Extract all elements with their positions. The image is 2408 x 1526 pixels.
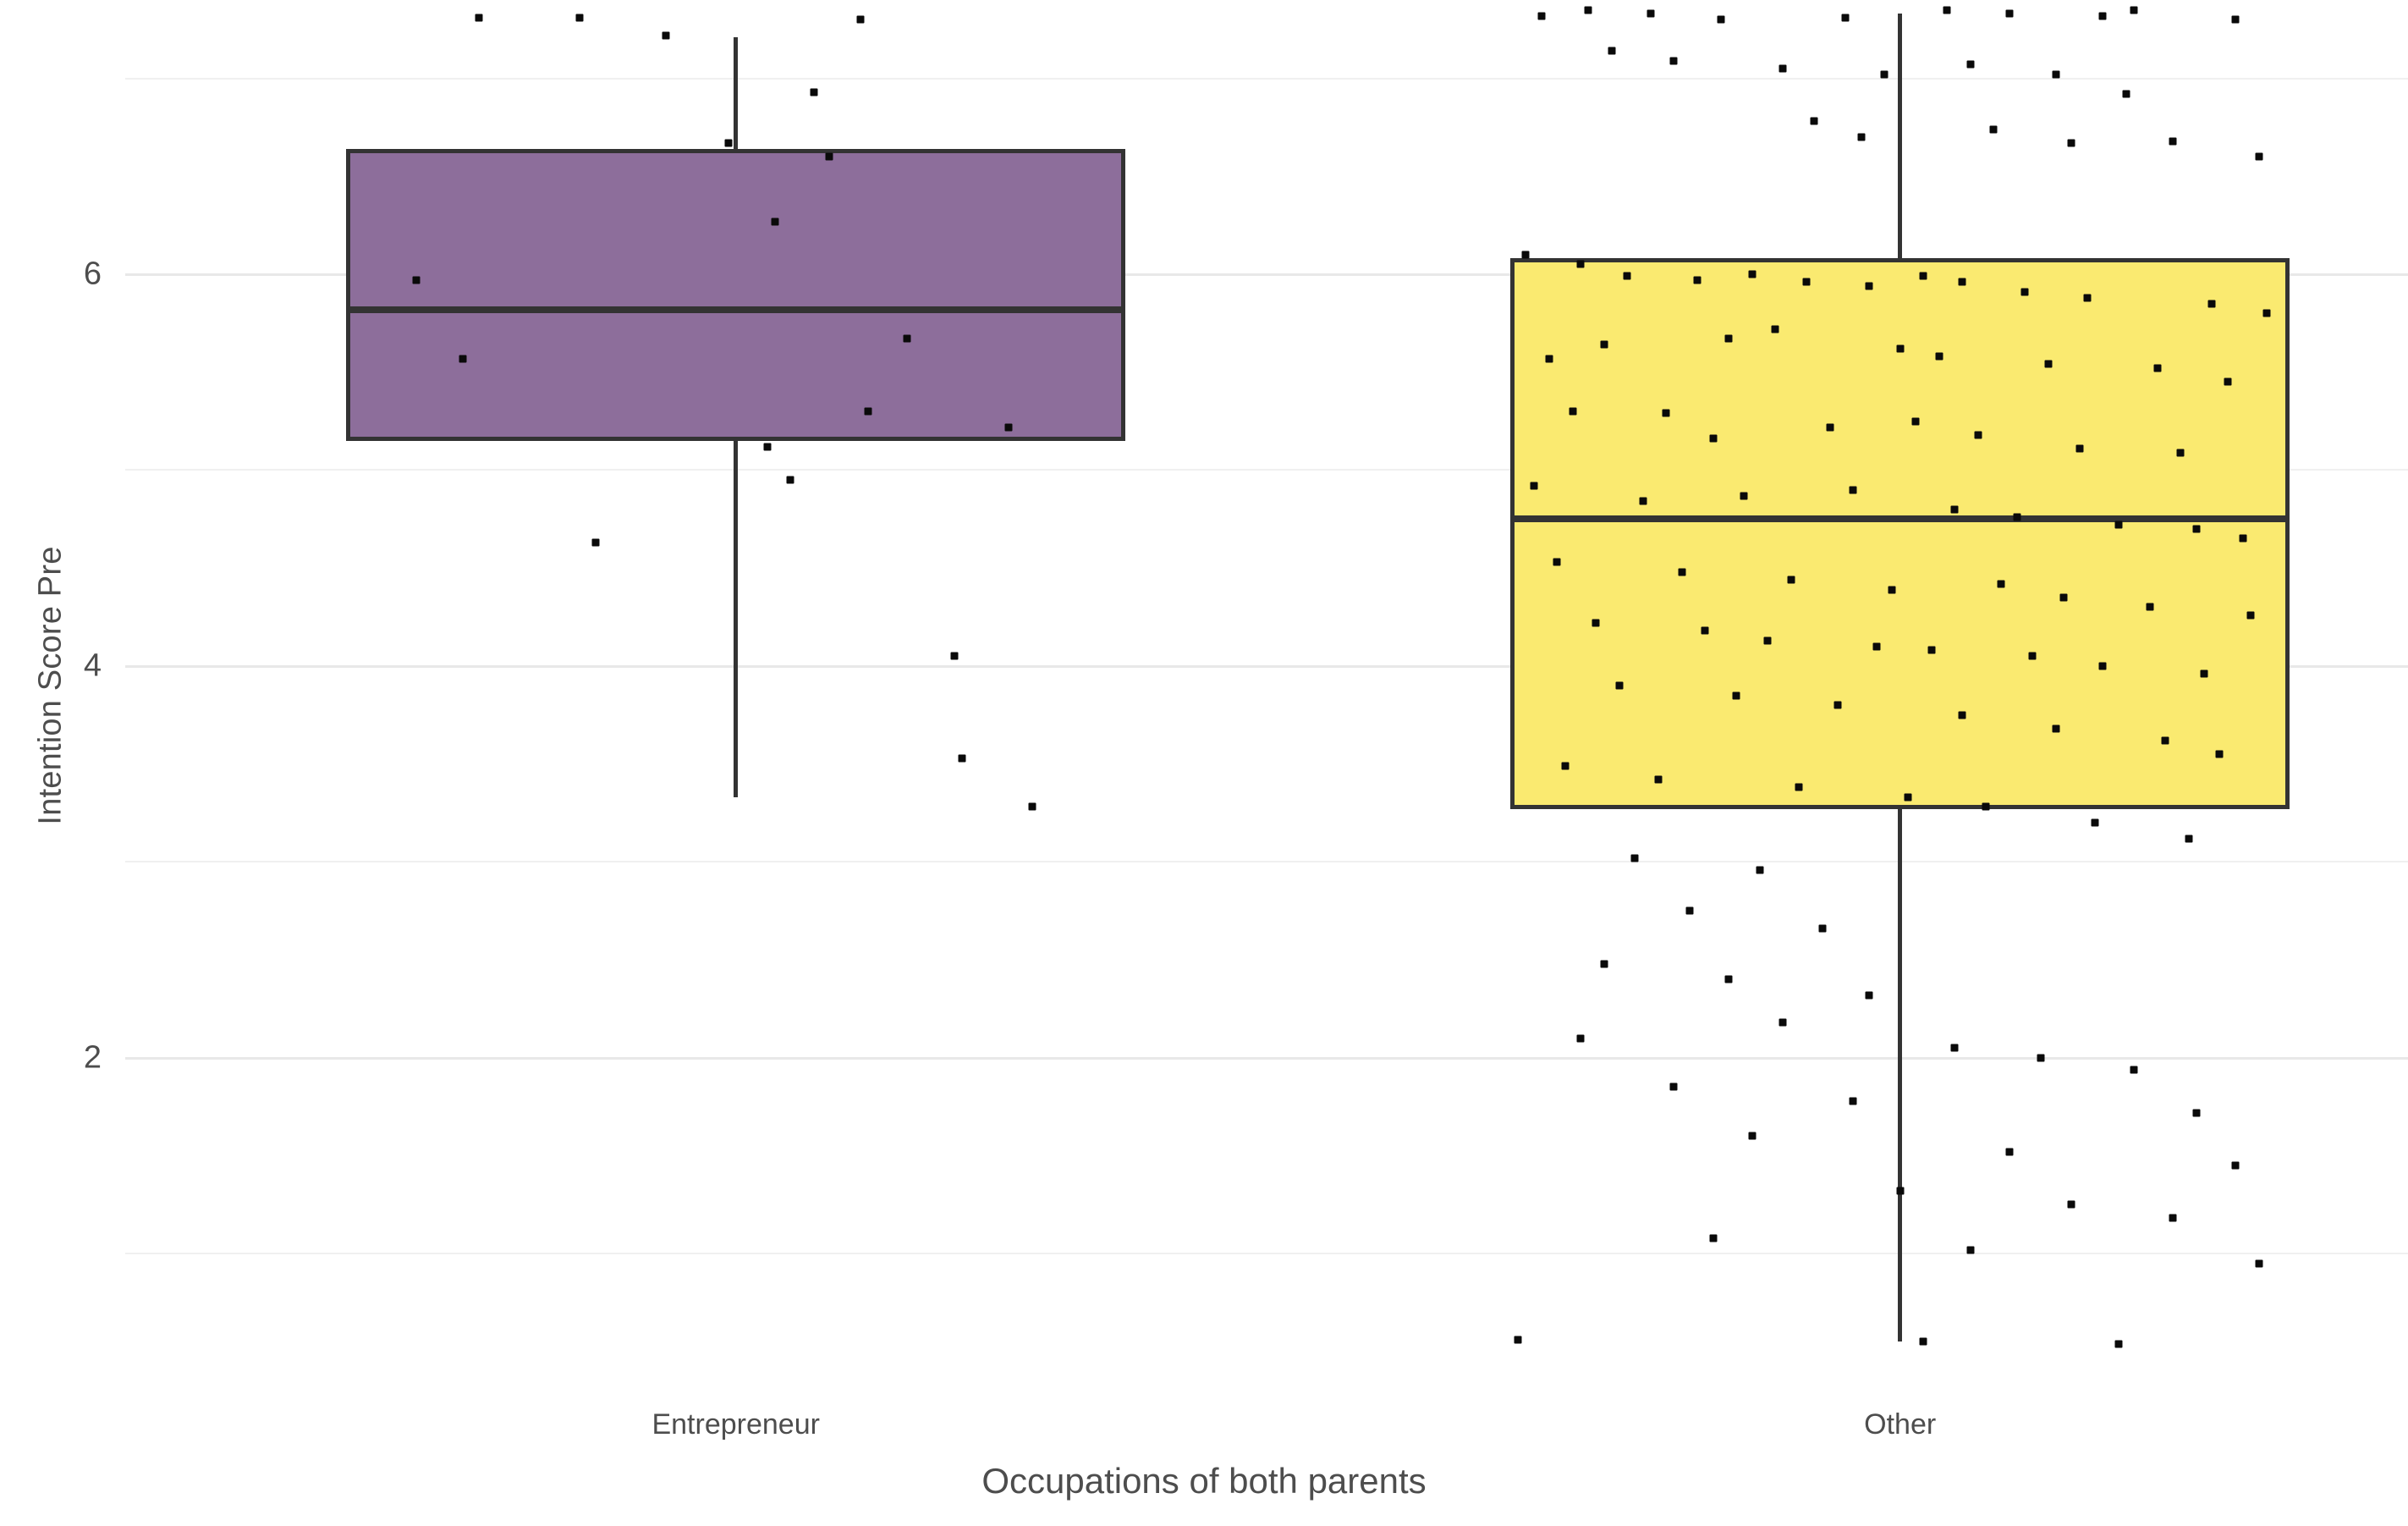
data-point [2052, 724, 2059, 732]
data-point [1779, 65, 1787, 73]
data-point [2114, 1340, 2122, 1347]
data-point [1943, 6, 1950, 14]
data-point [1982, 803, 1990, 811]
gridline-minor [125, 78, 2408, 80]
data-point [1670, 57, 1678, 64]
data-point [2130, 1066, 2138, 1073]
data-point [1608, 47, 1615, 55]
gridline-minor [125, 861, 2408, 862]
data-point [810, 88, 817, 96]
data-point [904, 335, 911, 343]
data-point [1935, 353, 1943, 361]
data-point [1028, 803, 1036, 811]
data-point [1857, 134, 1865, 141]
data-point [1616, 682, 1624, 690]
data-point [1896, 1187, 1904, 1195]
data-point [1522, 251, 1530, 258]
data-point [2044, 361, 2052, 368]
data-point [412, 276, 420, 284]
data-point [2247, 611, 2255, 619]
data-point [1912, 417, 1920, 425]
data-point [1670, 1083, 1678, 1091]
data-point [1631, 854, 1639, 862]
data-point [1920, 273, 1927, 280]
y-axis-tick-label: 6 [17, 256, 102, 293]
data-point [1694, 276, 1702, 284]
data-point [1990, 125, 1998, 133]
data-point [826, 153, 833, 161]
data-point [1561, 762, 1569, 769]
data-point [2068, 139, 2075, 146]
data-point [1787, 576, 1795, 584]
data-point [1966, 61, 1974, 69]
plot-panel [125, 0, 2408, 1371]
data-point [1546, 355, 1553, 362]
box-other [1510, 258, 2290, 808]
data-point [1811, 118, 1818, 125]
data-point [1904, 793, 1911, 801]
data-point [2083, 294, 2091, 301]
data-point [763, 443, 771, 450]
data-point [1803, 278, 1811, 286]
data-point [1569, 408, 1576, 416]
data-point [1842, 14, 1850, 21]
data-point [1888, 586, 1896, 593]
box-entrepreneur [346, 149, 1125, 441]
x-axis-title: Occupations of both parents [0, 1461, 2408, 1501]
boxplot-figure: Intention Score Pre 642 EntrepreneurOthe… [0, 0, 2408, 1526]
data-point [2092, 819, 2099, 827]
data-point [2185, 835, 2192, 842]
data-point [1959, 711, 1966, 719]
data-point [1833, 702, 1841, 709]
data-point [1764, 636, 1772, 644]
data-point [1850, 486, 1857, 493]
data-point [1733, 691, 1740, 699]
data-point [1998, 580, 2005, 587]
data-point [1678, 568, 1685, 576]
data-point [2013, 513, 2020, 521]
data-point [1624, 273, 1631, 280]
x-axis-tick-label-other: Other [1864, 1408, 1936, 1441]
data-point [1576, 261, 1584, 268]
data-point [1585, 6, 1592, 14]
data-point [2068, 1201, 2075, 1209]
data-point [2005, 1148, 2013, 1155]
data-point [1865, 282, 1872, 289]
data-point [2255, 1259, 2262, 1267]
data-point [1005, 423, 1013, 431]
data-point [2005, 10, 2013, 18]
data-point [2255, 153, 2262, 161]
data-point [2153, 365, 2161, 372]
data-point [2060, 593, 2068, 601]
data-point [1639, 498, 1647, 505]
data-point [1663, 410, 1670, 417]
data-point [1553, 559, 1561, 566]
data-point [1592, 619, 1600, 626]
data-point [2224, 378, 2231, 386]
data-point [1772, 325, 1779, 333]
y-axis-title-wrap: Intention Score Pre [0, 0, 102, 1371]
y-axis-tick-label: 4 [17, 647, 102, 684]
data-point [1709, 435, 1717, 443]
data-point [1795, 784, 1802, 791]
data-point [1779, 1019, 1787, 1027]
data-point [1740, 492, 1748, 499]
data-point [2201, 670, 2208, 678]
data-point [2231, 1162, 2239, 1170]
data-point [857, 16, 865, 24]
data-point [2052, 70, 2059, 78]
data-point [1959, 278, 1966, 286]
data-point [2231, 16, 2239, 24]
data-point [2208, 300, 2216, 307]
data-point [576, 14, 584, 21]
data-point [2192, 525, 2200, 532]
data-point [475, 14, 482, 21]
data-point [2240, 535, 2247, 543]
data-point [865, 408, 872, 416]
data-point [1537, 12, 1545, 19]
data-point [2161, 736, 2169, 744]
data-point [1896, 344, 1904, 352]
data-point [771, 218, 778, 225]
data-point [2122, 91, 2130, 98]
data-point [1966, 1246, 1974, 1253]
data-point [1756, 866, 1763, 873]
data-point [1702, 627, 1709, 635]
data-point [1951, 1044, 1959, 1052]
data-point [2021, 288, 2029, 295]
data-point [1951, 505, 1959, 513]
data-point [958, 754, 965, 762]
data-point [787, 477, 794, 484]
data-point [1881, 70, 1888, 78]
data-point [1826, 423, 1833, 431]
data-point [1515, 1336, 1522, 1343]
data-point [1873, 642, 1881, 650]
data-point [2099, 12, 2107, 19]
data-point [2130, 6, 2138, 14]
data-point [1748, 271, 1756, 278]
data-point [1576, 1034, 1584, 1042]
data-point [2177, 449, 2185, 456]
data-point [1850, 1097, 1857, 1105]
data-point [1974, 431, 1982, 438]
data-point [2216, 751, 2224, 758]
data-point [1655, 776, 1663, 784]
data-point [1717, 16, 1724, 24]
data-point [1724, 976, 1732, 983]
data-point [2099, 662, 2107, 669]
y-axis-title: Intention Score Pre [33, 432, 69, 939]
gridline-minor [125, 1253, 2408, 1254]
data-point [2037, 1054, 2044, 1061]
data-point [2075, 444, 2083, 452]
data-point [1530, 482, 1537, 489]
data-point [2114, 521, 2122, 529]
gridline-major [125, 1057, 2408, 1060]
data-point [1600, 341, 1608, 349]
data-point [1685, 907, 1693, 915]
data-point [459, 355, 467, 362]
median-line-entrepreneur [346, 306, 1125, 313]
data-point [1647, 10, 1654, 18]
data-point [591, 539, 599, 547]
data-point [1748, 1132, 1756, 1140]
data-point [662, 31, 669, 39]
data-point [1927, 647, 1935, 654]
data-point [1865, 991, 1872, 999]
data-point [1600, 960, 1608, 967]
data-point [1920, 1338, 1927, 1346]
data-point [1709, 1234, 1717, 1242]
data-point [2262, 310, 2270, 317]
median-line-other [1510, 515, 2290, 522]
data-point [2169, 1215, 2177, 1222]
data-point [724, 139, 732, 146]
data-point [2029, 653, 2037, 660]
data-point [2146, 603, 2153, 611]
x-axis-tick-label-entrepreneur: Entrepreneur [651, 1408, 819, 1441]
data-point [2169, 137, 2177, 145]
y-axis-tick-label: 2 [17, 1039, 102, 1076]
data-point [950, 653, 958, 660]
data-point [1724, 335, 1732, 343]
data-point [1818, 924, 1826, 932]
data-point [2192, 1109, 2200, 1116]
